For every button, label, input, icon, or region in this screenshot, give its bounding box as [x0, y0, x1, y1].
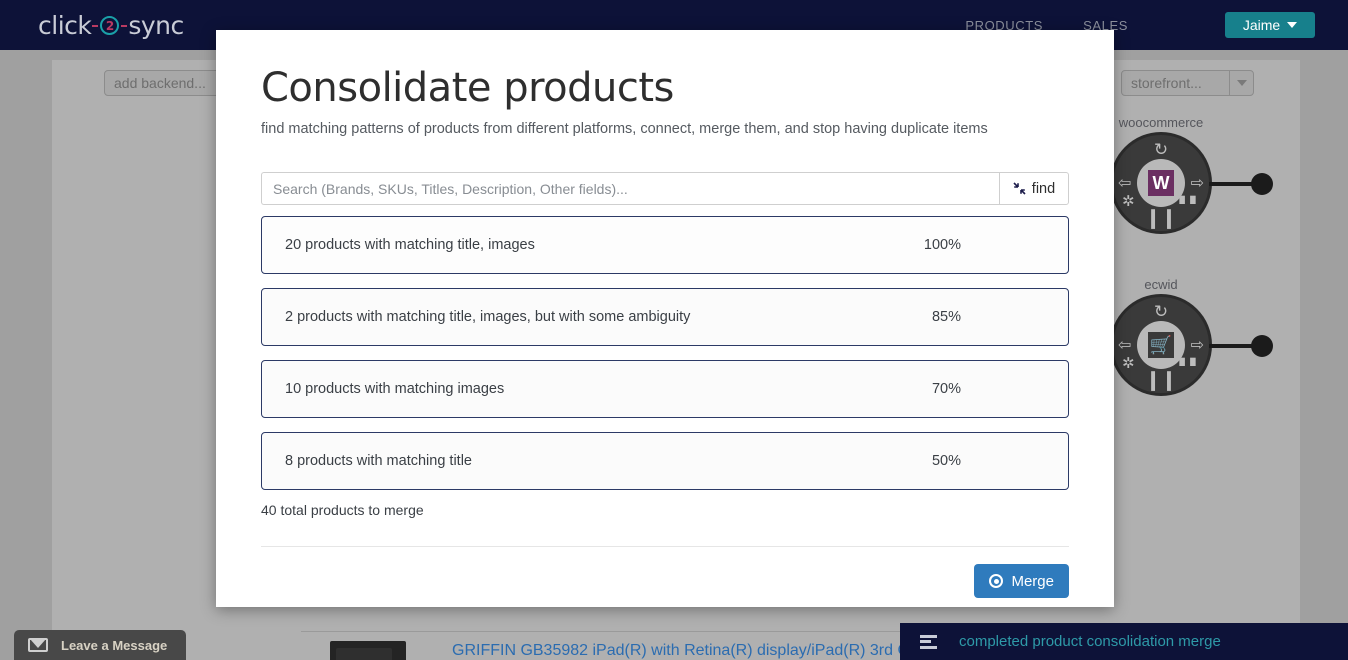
- connector-woocommerce[interactable]: woocommerce ↻ ⇦ ⇨ ✲ ▘▘ ❙❙ W: [1113, 135, 1209, 231]
- match-result-row[interactable]: 10 products with matching images 70%: [261, 360, 1069, 418]
- logo-text-sync: sync: [128, 11, 183, 40]
- match-result-percent: 100%: [924, 237, 961, 253]
- chevron-down-icon: [1287, 22, 1297, 28]
- match-result-row[interactable]: 20 products with matching title, images …: [261, 216, 1069, 274]
- connector-ecwid[interactable]: ecwid ↻ ⇦ ⇨ ✲ ▘▘ ❙❙ 🛒: [1113, 297, 1209, 393]
- list-icon: [920, 635, 937, 649]
- arrow-left-icon[interactable]: ⇦: [1118, 176, 1131, 192]
- gear-icon[interactable]: ✲: [1122, 356, 1135, 371]
- match-result-percent: 70%: [932, 381, 961, 397]
- woocommerce-logo-icon: W: [1148, 170, 1174, 196]
- refresh-icon[interactable]: ↻: [1154, 141, 1168, 158]
- dialog-footer: Merge: [261, 564, 1069, 598]
- match-result-percent: 85%: [932, 309, 961, 325]
- page-title: Consolidate products: [261, 30, 1069, 111]
- consolidate-products-dialog: Consolidate products find matching patte…: [216, 30, 1114, 607]
- match-result-label: 8 products with matching title: [285, 453, 932, 469]
- merge-button[interactable]: Merge: [974, 564, 1069, 598]
- match-result-label: 20 products with matching title, images: [285, 237, 924, 253]
- connector-hub[interactable]: W: [1137, 159, 1185, 207]
- connector-dial[interactable]: ↻ ⇦ ⇨ ✲ ▘▘ ❙❙ W: [1113, 135, 1209, 231]
- logo-text-click: click: [38, 11, 91, 40]
- grid-icon[interactable]: ▘▘: [1179, 359, 1201, 373]
- connector-node[interactable]: [1251, 173, 1273, 195]
- chat-widget-label: Leave a Message: [61, 638, 167, 653]
- total-products-text: 40 total products to merge: [261, 502, 1069, 518]
- logo-badge-icon: 2: [100, 16, 119, 35]
- storefront-label: storefront...: [1131, 75, 1202, 91]
- add-backend-select[interactable]: add backend...: [104, 70, 228, 96]
- merge-button-label: Merge: [1011, 573, 1054, 590]
- connector-hub[interactable]: 🛒: [1137, 321, 1185, 369]
- search-bar: find: [261, 172, 1069, 205]
- dialog-subtitle: find matching patterns of products from …: [261, 121, 1069, 137]
- match-results-list: 20 products with matching title, images …: [261, 216, 1069, 490]
- shopping-cart-icon: 🛒: [1148, 332, 1174, 358]
- match-result-label: 10 products with matching images: [285, 381, 932, 397]
- bullseye-icon: [989, 574, 1003, 588]
- match-result-row[interactable]: 8 products with matching title 50%: [261, 432, 1069, 490]
- connector-node[interactable]: [1251, 335, 1273, 357]
- app-logo[interactable]: click 2 sync: [38, 11, 184, 40]
- footer-divider: [261, 546, 1069, 547]
- connector-label: ecwid: [1113, 277, 1209, 292]
- storefront-select[interactable]: storefront...: [1121, 70, 1254, 96]
- add-backend-label: add backend...: [114, 75, 206, 91]
- logo-dash-right: [121, 25, 127, 27]
- notification-toast[interactable]: completed product consolidation merge: [900, 623, 1348, 660]
- pause-icon[interactable]: ❙❙: [1145, 209, 1177, 228]
- compress-icon: [1013, 182, 1026, 195]
- connector-label: woocommerce: [1113, 115, 1209, 130]
- grid-icon[interactable]: ▘▘: [1179, 197, 1201, 211]
- user-menu-label: Jaime: [1243, 17, 1280, 33]
- chevron-down-icon[interactable]: [1229, 71, 1253, 95]
- toast-message: completed product consolidation merge: [959, 633, 1221, 650]
- leave-a-message-widget[interactable]: Leave a Message: [14, 630, 186, 660]
- refresh-icon[interactable]: ↻: [1154, 303, 1168, 320]
- product-thumbnail: [330, 641, 406, 660]
- logo-dash-left: [92, 25, 98, 27]
- arrow-left-icon[interactable]: ⇦: [1118, 338, 1131, 354]
- pause-icon[interactable]: ❙❙: [1145, 371, 1177, 390]
- match-result-label: 2 products with matching title, images, …: [285, 309, 932, 325]
- product-title-link[interactable]: GRIFFIN GB35982 iPad(R) with Retina(R) d…: [452, 642, 910, 660]
- search-input[interactable]: [261, 172, 999, 205]
- arrow-right-icon[interactable]: ⇨: [1191, 338, 1204, 354]
- find-button-label: find: [1032, 181, 1055, 197]
- gear-icon[interactable]: ✲: [1122, 194, 1135, 209]
- match-result-row[interactable]: 2 products with matching title, images, …: [261, 288, 1069, 346]
- connector-dial[interactable]: ↻ ⇦ ⇨ ✲ ▘▘ ❙❙ 🛒: [1113, 297, 1209, 393]
- find-button[interactable]: find: [999, 172, 1069, 205]
- user-menu-button[interactable]: Jaime: [1225, 12, 1315, 38]
- match-result-percent: 50%: [932, 453, 961, 469]
- arrow-right-icon[interactable]: ⇨: [1191, 176, 1204, 192]
- app-root: add backend... storefront... woocommerce…: [0, 0, 1348, 660]
- envelope-icon: [28, 638, 48, 652]
